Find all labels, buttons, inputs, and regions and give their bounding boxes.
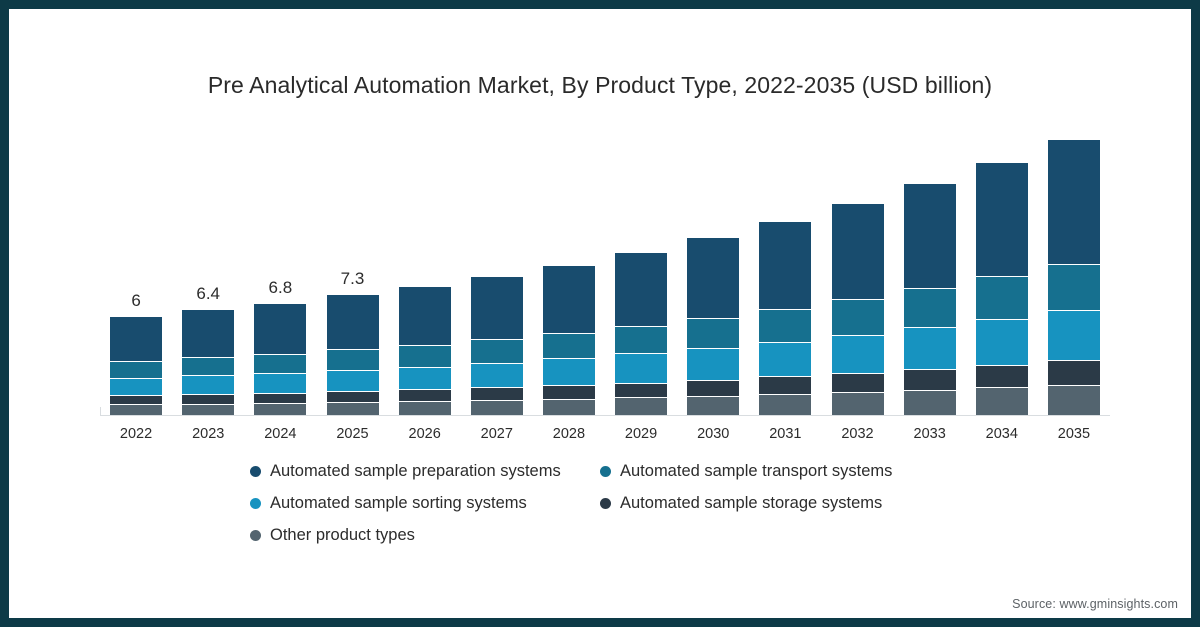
bar-value-label: 6 (98, 291, 174, 311)
chart-page: Pre Analytical Automation Market, By Pro… (0, 0, 1200, 627)
legend-row: Automated sample preparation systemsAuto… (250, 462, 970, 494)
x-axis-line (100, 415, 1110, 416)
bar-2027[interactable] (471, 277, 523, 415)
x-axis-tick-2031: 2031 (750, 426, 820, 442)
bar-segment[interactable] (1048, 264, 1100, 311)
bar-segment[interactable] (471, 387, 523, 399)
bar-2033[interactable] (904, 184, 956, 415)
bar-segment[interactable] (759, 342, 811, 377)
bar-segment[interactable] (399, 345, 451, 367)
bar-segment[interactable] (687, 348, 739, 380)
bar-segment[interactable] (687, 380, 739, 396)
bar-segment[interactable] (399, 389, 451, 400)
bar-segment[interactable] (327, 370, 379, 391)
bar-2030[interactable] (687, 238, 739, 415)
x-axis-tick-2034: 2034 (967, 426, 1037, 442)
bar-2028[interactable] (543, 266, 595, 415)
frame-border-bottom (0, 618, 1200, 627)
bar-segment[interactable] (1048, 360, 1100, 385)
x-axis-tick-2026: 2026 (390, 426, 460, 442)
bar-segment[interactable] (832, 204, 884, 299)
bar-2031[interactable] (759, 222, 811, 415)
legend-swatch-icon (250, 466, 261, 477)
bar-segment[interactable] (182, 310, 234, 357)
x-axis-tick-2030: 2030 (678, 426, 748, 442)
bar-segment[interactable] (399, 401, 451, 415)
bar-segment[interactable] (182, 394, 234, 404)
bar-segment[interactable] (832, 373, 884, 392)
frame-border-top (0, 0, 1200, 9)
bar-2035[interactable] (1048, 140, 1100, 415)
bar-segment[interactable] (543, 358, 595, 385)
bar-segment[interactable] (615, 397, 667, 415)
source-attribution: Source: www.gminsights.com (1012, 597, 1178, 611)
bar-segment[interactable] (543, 266, 595, 333)
bar-value-label: 7.3 (315, 269, 391, 289)
bar-segment[interactable] (759, 222, 811, 309)
bar-segment[interactable] (254, 304, 306, 354)
bar-segment[interactable] (327, 402, 379, 415)
legend-row: Automated sample sorting systemsAutomate… (250, 494, 970, 526)
bar-segment[interactable] (976, 319, 1028, 364)
bar-2034[interactable] (976, 163, 1028, 415)
bar-segment[interactable] (832, 299, 884, 335)
bar-segment[interactable] (110, 404, 162, 415)
bar-segment[interactable] (110, 395, 162, 404)
y-axis-tick (100, 407, 101, 416)
bar-segment[interactable] (904, 369, 956, 390)
bar-segment[interactable] (832, 392, 884, 415)
bar-2032[interactable] (832, 204, 884, 415)
bar-segment[interactable] (327, 295, 379, 349)
bar-segment[interactable] (543, 385, 595, 398)
legend-label: Automated sample preparation systems (270, 462, 561, 481)
bar-segment[interactable] (976, 163, 1028, 277)
bar-segment[interactable] (399, 287, 451, 345)
legend-label: Automated sample sorting systems (270, 494, 527, 513)
bar-segment[interactable] (976, 276, 1028, 319)
bar-segment[interactable] (182, 404, 234, 415)
bar-segment[interactable] (1048, 385, 1100, 415)
bar-segment[interactable] (543, 399, 595, 415)
bar-segment[interactable] (759, 309, 811, 342)
legend-swatch-icon (600, 466, 611, 477)
bar-segment[interactable] (110, 378, 162, 396)
bar-segment[interactable] (327, 349, 379, 369)
bar-segment[interactable] (399, 367, 451, 390)
x-axis-tick-2033: 2033 (895, 426, 965, 442)
bar-2024[interactable]: 6.8 (254, 304, 306, 415)
bar-segment[interactable] (687, 238, 739, 318)
bar-segment[interactable] (904, 184, 956, 288)
x-axis-tick-2035: 2035 (1039, 426, 1109, 442)
legend-item[interactable]: Automated sample transport systems (600, 462, 960, 481)
legend-label: Automated sample transport systems (620, 462, 892, 481)
bar-segment[interactable] (976, 365, 1028, 388)
bar-segment[interactable] (254, 373, 306, 393)
bar-segment[interactable] (471, 339, 523, 362)
x-axis-tick-2025: 2025 (318, 426, 388, 442)
legend-row: Other product types (250, 526, 970, 558)
plot-area: 66.46.87.3 (100, 120, 1110, 416)
bar-segment[interactable] (110, 361, 162, 378)
bar-2022[interactable]: 6 (110, 317, 162, 415)
legend-swatch-icon (250, 530, 261, 541)
legend-label: Other product types (270, 526, 415, 545)
bar-2025[interactable]: 7.3 (327, 295, 379, 415)
bar-segment[interactable] (543, 333, 595, 358)
x-axis-labels: 2022202320242025202620272028202920302031… (100, 426, 1110, 450)
legend-item[interactable]: Other product types (250, 526, 600, 545)
bar-segment[interactable] (110, 317, 162, 361)
x-axis-tick-2024: 2024 (245, 426, 315, 442)
bar-segment[interactable] (182, 357, 234, 375)
bar-segment[interactable] (182, 375, 234, 394)
bar-segment[interactable] (904, 327, 956, 369)
legend-label: Automated sample storage systems (620, 494, 882, 513)
bar-segment[interactable] (615, 253, 667, 326)
x-axis-tick-2022: 2022 (101, 426, 171, 442)
legend-item[interactable]: Automated sample sorting systems (250, 494, 600, 513)
bar-2029[interactable] (615, 253, 667, 415)
x-axis-tick-2032: 2032 (823, 426, 893, 442)
bar-segment[interactable] (254, 393, 306, 403)
bar-segment[interactable] (904, 288, 956, 327)
bar-segment[interactable] (1048, 140, 1100, 264)
chart-title: Pre Analytical Automation Market, By Pro… (0, 72, 1200, 99)
bar-segment[interactable] (327, 391, 379, 402)
bar-segment[interactable] (615, 353, 667, 382)
x-axis-tick-2028: 2028 (534, 426, 604, 442)
legend-swatch-icon (250, 498, 261, 509)
bar-segment[interactable] (832, 335, 884, 373)
bar-value-label: 6.4 (170, 284, 246, 304)
bar-segment[interactable] (687, 318, 739, 348)
bar-2023[interactable]: 6.4 (182, 310, 234, 415)
bar-segment[interactable] (759, 376, 811, 393)
legend-swatch-icon (600, 498, 611, 509)
bar-segment[interactable] (759, 394, 811, 415)
bar-value-label: 6.8 (242, 278, 318, 298)
bar-segment[interactable] (1048, 310, 1100, 359)
bar-segment[interactable] (615, 326, 667, 354)
chart-legend: Automated sample preparation systemsAuto… (250, 462, 970, 558)
x-axis-tick-2023: 2023 (173, 426, 243, 442)
legend-item[interactable]: Automated sample storage systems (600, 494, 960, 513)
bar-segment[interactable] (904, 390, 956, 415)
bar-segment[interactable] (976, 387, 1028, 415)
bar-segment[interactable] (615, 383, 667, 398)
bar-segment[interactable] (687, 396, 739, 416)
bar-segment[interactable] (471, 277, 523, 339)
x-axis-tick-2027: 2027 (462, 426, 532, 442)
bar-segment[interactable] (254, 403, 306, 415)
legend-item[interactable]: Automated sample preparation systems (250, 462, 600, 481)
bar-segment[interactable] (471, 400, 523, 415)
bar-segment[interactable] (254, 354, 306, 373)
x-axis-tick-2029: 2029 (606, 426, 676, 442)
bar-segment[interactable] (471, 363, 523, 388)
bar-2026[interactable] (399, 287, 451, 415)
